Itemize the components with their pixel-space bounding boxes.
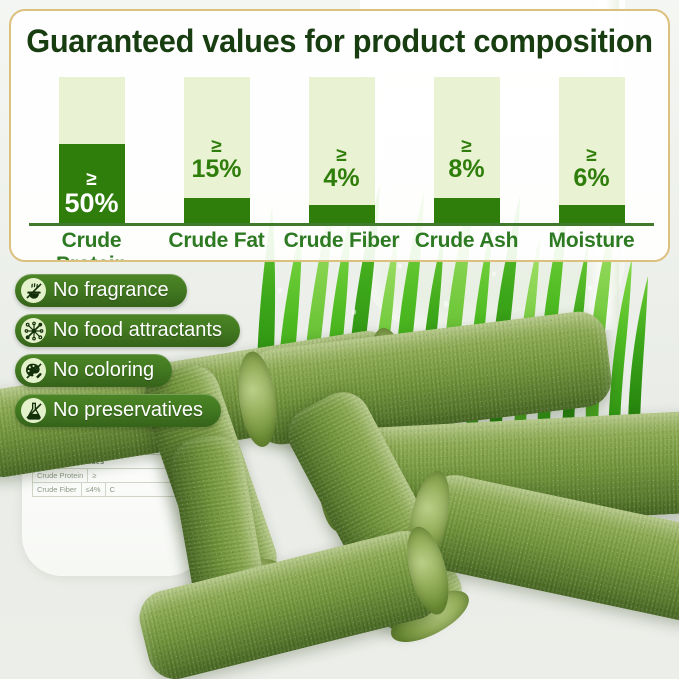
- badge-no-fragrance[interactable]: No fragrance: [15, 274, 187, 307]
- bar-value: 6%: [559, 166, 625, 191]
- chart-category-labels: Crude Protein Crude Fat Crude Fiber Crud…: [29, 229, 654, 262]
- bar-track: ≥ 6%: [559, 77, 625, 223]
- no-fragrance-icon: [21, 278, 46, 303]
- page-title: Guaranteed values for product compositio…: [24, 23, 655, 60]
- bar-value: 50%: [59, 190, 125, 217]
- chart-axis-line: [29, 223, 654, 226]
- badge-label: No food attractants: [53, 319, 222, 342]
- bar-track: ≥ 50%: [59, 77, 125, 223]
- no-preservatives-glyph: [24, 401, 44, 421]
- bar-crude-ash[interactable]: ≥ 8%: [404, 77, 529, 223]
- no-coloring-glyph: [24, 361, 44, 381]
- bar-value-label: ≥ 4%: [309, 146, 375, 191]
- bar-crude-fiber[interactable]: ≥ 4%: [279, 77, 404, 223]
- bar-fill: [434, 198, 500, 223]
- category-label-moisture: Moisture: [529, 229, 654, 262]
- product-infographic: Hairball Freeze Drying Immun Guaranteed …: [0, 0, 679, 679]
- composition-card: Guaranteed values for product compositio…: [9, 9, 670, 262]
- chart-bars: ≥ 50% ≥ 15%: [29, 77, 654, 223]
- bar-value-label: ≥ 50%: [59, 170, 125, 217]
- bar-qualifier: ≥: [309, 146, 375, 165]
- badge-no-food-attractants[interactable]: No food attractants: [15, 314, 240, 347]
- bar-crude-fat[interactable]: ≥ 15%: [154, 77, 279, 223]
- jar-label-row-value: ≥: [88, 469, 100, 482]
- bar-moisture[interactable]: ≥ 6%: [529, 77, 654, 223]
- bar-value-label: ≥ 15%: [184, 137, 250, 182]
- bar-track: ≥ 8%: [434, 77, 500, 223]
- bar-value-label: ≥ 6%: [559, 146, 625, 191]
- bar-fill: [559, 205, 625, 223]
- jar-label-row-name: Crude Fiber: [33, 483, 82, 496]
- jar-label-row-extra: C: [106, 483, 119, 496]
- feature-badge-list: No fragrance: [15, 274, 240, 434]
- bar-value: 8%: [434, 157, 500, 182]
- no-fragrance-glyph: [24, 281, 44, 301]
- badge-label: No preservatives: [53, 399, 203, 422]
- bar-crude-protein[interactable]: ≥ 50%: [29, 77, 154, 223]
- no-food-attractants-glyph: [24, 321, 44, 341]
- badge-no-coloring[interactable]: No coloring: [15, 354, 172, 387]
- bar-value-label: ≥ 8%: [434, 137, 500, 182]
- bar-track: ≥ 15%: [184, 77, 250, 223]
- category-label-crude-fiber: Crude Fiber: [279, 229, 404, 262]
- badge-label: No fragrance: [53, 279, 169, 302]
- no-coloring-icon: [21, 358, 46, 383]
- bar-qualifier: ≥: [184, 137, 250, 156]
- no-preservatives-icon: [21, 398, 46, 423]
- category-label-crude-ash: Crude Ash: [404, 229, 529, 262]
- bar-qualifier: ≥: [434, 137, 500, 156]
- category-label-crude-fat: Crude Fat: [154, 229, 279, 262]
- composition-bar-chart: ≥ 50% ≥ 15%: [29, 77, 654, 252]
- bar-value: 15%: [184, 157, 250, 182]
- jar-label-row-value: ≤4%: [82, 483, 106, 496]
- category-label-crude-protein: Crude Protein: [29, 229, 154, 262]
- bar-fill: [309, 205, 375, 223]
- badge-label: No coloring: [53, 359, 154, 382]
- bar-qualifier: ≥: [59, 170, 125, 189]
- bar-fill: [184, 198, 250, 223]
- bar-value: 4%: [309, 166, 375, 191]
- badge-no-preservatives[interactable]: No preservatives: [15, 394, 221, 427]
- bar-qualifier: ≥: [559, 146, 625, 165]
- bar-track: ≥ 4%: [309, 77, 375, 223]
- no-food-attractants-icon: [21, 318, 46, 343]
